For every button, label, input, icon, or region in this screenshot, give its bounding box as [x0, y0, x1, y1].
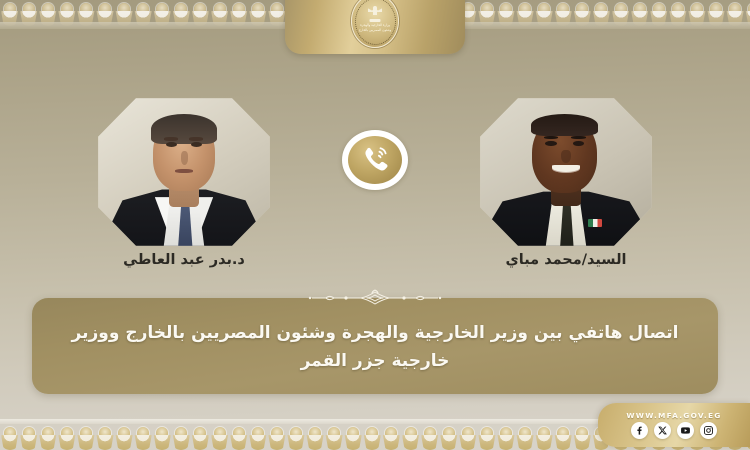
ornament-motif — [172, 424, 191, 450]
person-name-right: السيد/محمد مباي — [416, 252, 716, 268]
portrait-badr-abdelatty — [98, 98, 270, 246]
ornament-motif — [19, 424, 38, 450]
ornament-motif — [420, 424, 439, 450]
instagram-icon[interactable] — [700, 422, 717, 439]
ministry-seal: وزارة الخارجية والهجرة وشئون المصريين با… — [351, 0, 399, 48]
ornament-motif — [229, 424, 248, 450]
hexagon-frame-left — [96, 96, 272, 248]
ornament-motif — [115, 424, 134, 450]
ornament-motif — [554, 424, 573, 450]
hexagon-frame-inner-right — [480, 98, 652, 246]
phone-call-badge — [342, 130, 408, 190]
ornament-motif — [477, 424, 496, 450]
ornament-motif — [382, 424, 401, 450]
mfa-announcement-card: وزارة الخارجية والهجرة وشئون المصريين با… — [0, 0, 750, 450]
ornament-motif — [191, 424, 210, 450]
ornament-motif — [76, 424, 95, 450]
portrait-card-left — [96, 96, 272, 248]
facebook-icon[interactable] — [631, 422, 648, 439]
ornament-motif — [306, 424, 325, 450]
ornament-motif — [38, 424, 57, 450]
ornament-motif — [516, 424, 535, 450]
footer-contact-badge: WWW.MFA.GOV.EG — [598, 403, 750, 447]
emblem-plate: وزارة الخارجية والهجرة وشئون المصريين با… — [285, 0, 465, 54]
portrait-card-right — [478, 96, 654, 248]
ornament-motif — [344, 424, 363, 450]
hexagon-frame-inner-left — [98, 98, 270, 246]
eagle-base — [370, 19, 381, 22]
ornament-motif — [325, 424, 344, 450]
youtube-icon[interactable] — [677, 422, 694, 439]
ornament-motif — [535, 424, 554, 450]
website-url[interactable]: WWW.MFA.GOV.EG — [626, 411, 721, 420]
phone-call-icon — [348, 136, 402, 184]
ornament-motif — [210, 424, 229, 450]
ornament-motif — [573, 424, 592, 450]
ornament-motif — [248, 424, 267, 450]
ornament-motif — [363, 424, 382, 450]
ornament-motif — [95, 424, 114, 450]
ornament-motif — [0, 424, 19, 450]
portrait-mohamed-mbaye — [480, 98, 652, 246]
social-links — [631, 422, 717, 439]
ornament-motif — [286, 424, 305, 450]
egypt-eagle-emblem — [368, 6, 382, 22]
ornament-motif — [401, 424, 420, 450]
ornament-motif — [439, 424, 458, 450]
ornament-motif — [134, 424, 153, 450]
message-panel: اتصال هاتفي بين وزير الخارجية والهجرة وش… — [32, 298, 718, 394]
hexagon-frame-right — [478, 96, 654, 248]
ornamental-flourish — [300, 286, 450, 310]
ornament-motif — [57, 424, 76, 450]
ornament-motif — [153, 424, 172, 450]
ornament-motif — [458, 424, 477, 450]
ornament-motif — [496, 424, 515, 450]
ornament-motif — [267, 424, 286, 450]
x-twitter-icon[interactable] — [654, 422, 671, 439]
announcement-text: اتصال هاتفي بين وزير الخارجية والهجرة وش… — [58, 320, 692, 375]
person-name-left: د.بدر عبد العاطي — [34, 252, 334, 268]
